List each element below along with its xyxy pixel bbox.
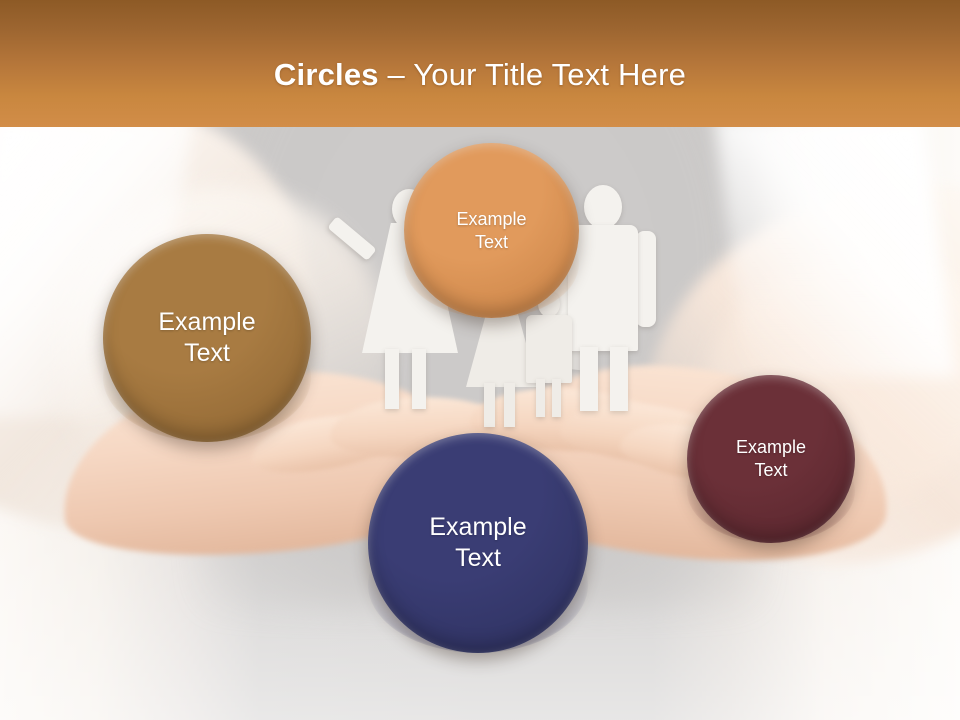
paper-man-head xyxy=(584,185,622,229)
circle-bottom-line2: Text xyxy=(455,544,501,572)
slide-canvas: Circles – Your Title Text Here Example T… xyxy=(0,0,960,720)
paper-child-leg xyxy=(552,379,561,417)
circle-right[interactable]: Example Text xyxy=(687,375,855,543)
circle-left-label: Example Text xyxy=(146,307,267,370)
paper-girl-leg xyxy=(504,383,515,427)
circle-right-line2: Text xyxy=(754,460,787,480)
circle-top-line2: Text xyxy=(475,232,508,252)
circle-left-line1: Example xyxy=(158,308,255,336)
circle-right-label: Example Text xyxy=(724,436,818,481)
paper-child-body xyxy=(526,315,572,383)
circle-left-line2: Text xyxy=(184,339,230,367)
circle-bottom-label: Example Text xyxy=(417,512,538,575)
paper-man-leg xyxy=(580,347,598,411)
page-title-bold: Circles xyxy=(274,57,379,92)
paper-man-arm xyxy=(636,231,656,327)
circle-left[interactable]: Example Text xyxy=(103,234,311,442)
circle-bottom-line1: Example xyxy=(429,513,526,541)
circle-right-line1: Example xyxy=(736,437,806,457)
paper-woman-arm xyxy=(327,216,376,261)
circle-bottom[interactable]: Example Text xyxy=(368,433,588,653)
circle-top-label: Example Text xyxy=(444,208,538,253)
circle-top[interactable]: Example Text xyxy=(404,143,579,318)
paper-child-leg xyxy=(536,379,545,417)
slide-header-bar: Circles – Your Title Text Here xyxy=(0,0,960,127)
paper-woman-leg xyxy=(412,349,426,409)
paper-man-leg xyxy=(610,347,628,411)
paper-woman-leg xyxy=(385,349,399,409)
paper-man-body xyxy=(568,225,638,351)
paper-girl-leg xyxy=(484,383,495,427)
page-title-rest: – Your Title Text Here xyxy=(379,57,686,92)
page-title: Circles – Your Title Text Here xyxy=(274,35,686,93)
circle-top-line1: Example xyxy=(456,209,526,229)
